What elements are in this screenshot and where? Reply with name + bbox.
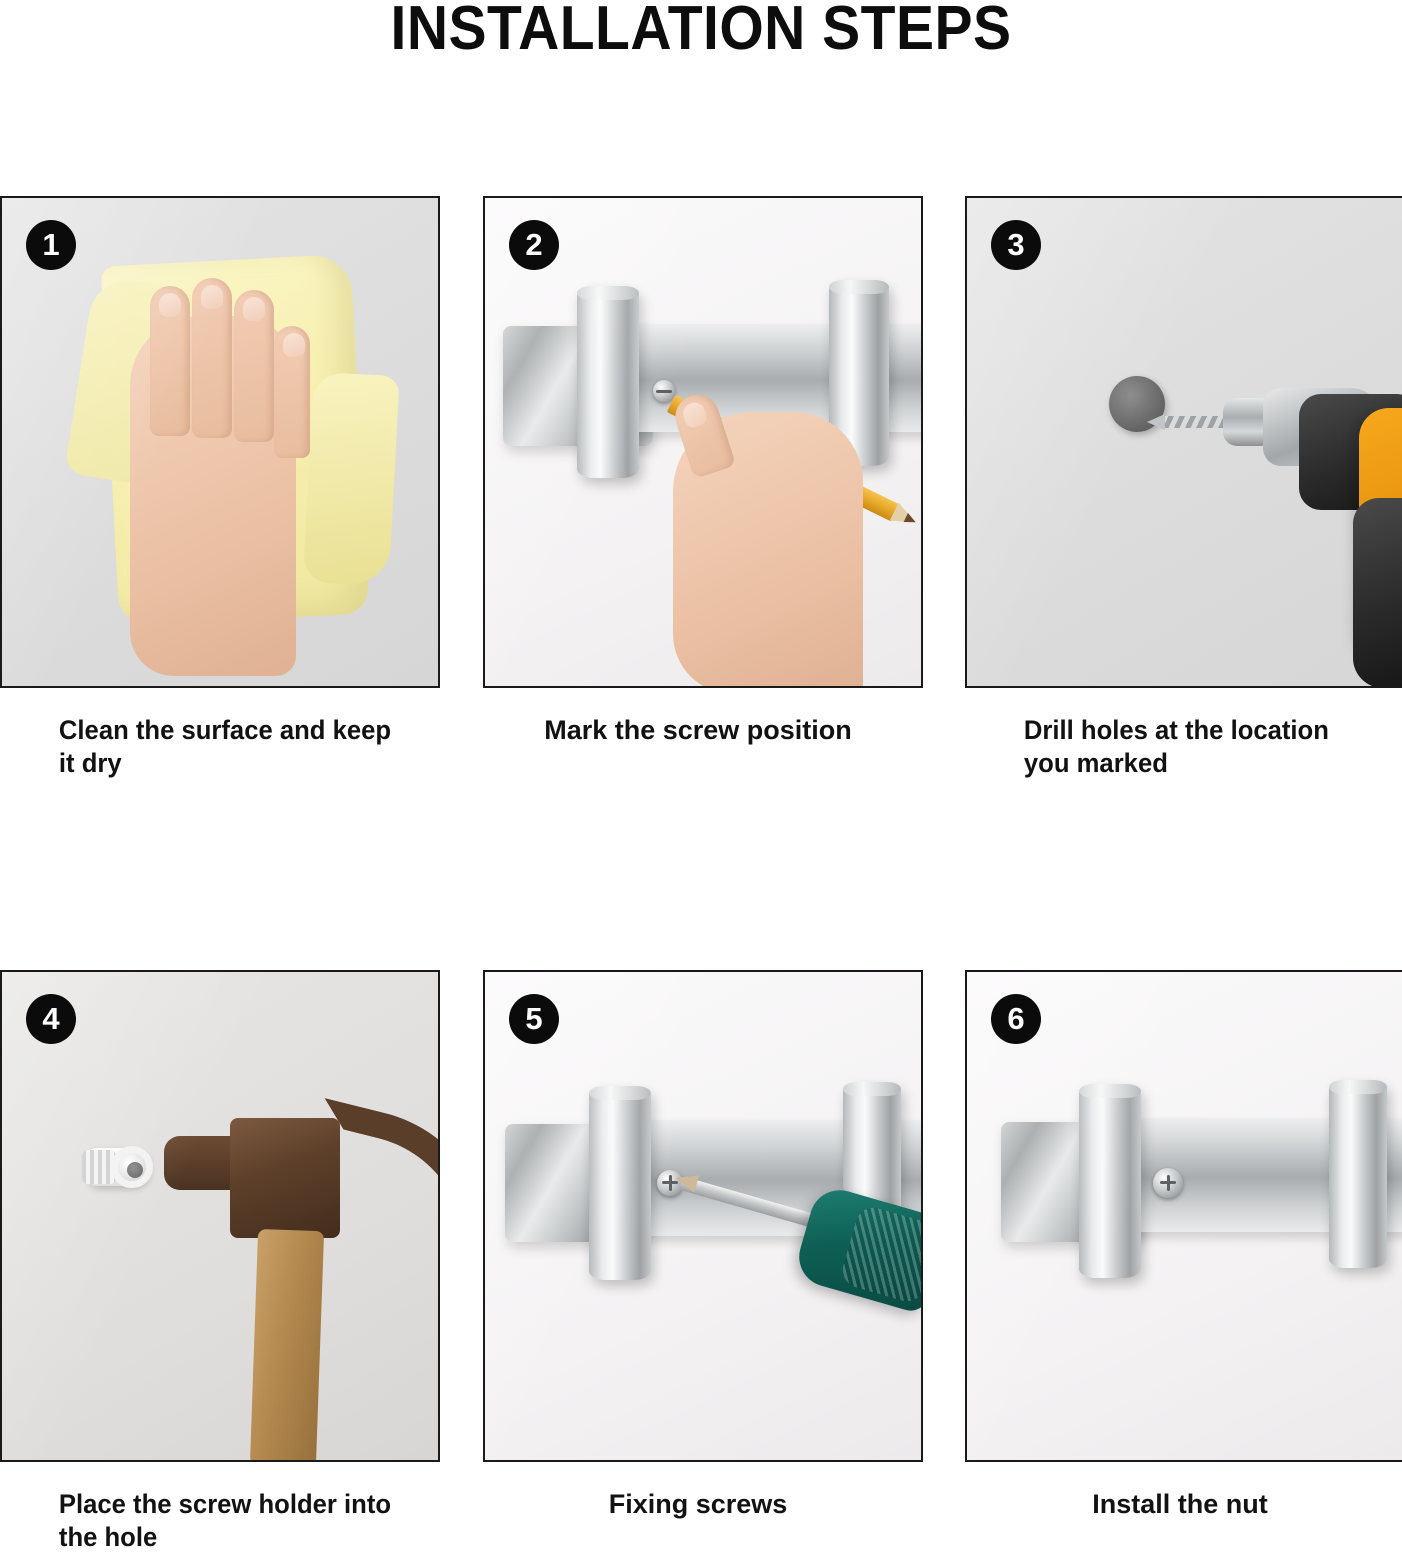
step-caption-4: Place the screw holder into the hole xyxy=(0,1488,418,1554)
hook-icon xyxy=(577,286,639,478)
step-caption-5: Fixing screws xyxy=(483,1488,923,1521)
step-number-badge-1: 1 xyxy=(26,220,76,270)
step-image-6: 6 xyxy=(965,970,1402,1462)
step-caption-3: Drill holes at the location you marked xyxy=(965,714,1383,780)
step-number-badge-5: 5 xyxy=(509,994,559,1044)
finger-icon xyxy=(150,286,190,436)
step-card-4: 4 Place the screw holder into the hole xyxy=(0,970,440,1554)
hook-icon xyxy=(589,1086,651,1280)
step-image-4: 4 xyxy=(0,970,440,1462)
step-number-badge-2: 2 xyxy=(509,220,559,270)
finger-icon xyxy=(274,326,310,458)
step-card-6: 6 Install the nut xyxy=(965,970,1402,1554)
step-image-2: 2 xyxy=(483,196,923,688)
steps-row-bottom: 4 Place the screw holder into the hole 5 xyxy=(0,970,1402,1554)
step-card-2: 2 Mark the screw position xyxy=(483,196,923,780)
steps-row-top: 1 Clean the surface and keep it dry 2 xyxy=(0,196,1402,780)
step-number-badge-3: 3 xyxy=(991,220,1041,270)
finger-icon xyxy=(192,278,232,438)
step-number-badge-6: 6 xyxy=(991,994,1041,1044)
finger-icon xyxy=(234,290,274,442)
step-image-3: 3 xyxy=(965,196,1402,688)
hook-icon xyxy=(1079,1084,1141,1278)
step-caption-2: Mark the screw position xyxy=(483,714,923,747)
hammer-handle-icon xyxy=(250,1229,324,1462)
step-caption-6: Install the nut xyxy=(965,1488,1402,1521)
step-image-5: 5 xyxy=(483,970,923,1462)
steps-grid: 1 Clean the surface and keep it dry 2 xyxy=(0,196,1402,1554)
drill-grip-icon xyxy=(1353,498,1402,688)
step-card-5: 5 Fixing screws xyxy=(483,970,923,1554)
step-image-1: 1 xyxy=(0,196,440,688)
installed-screw-icon xyxy=(1153,1168,1183,1198)
step-caption-1: Clean the surface and keep it dry xyxy=(0,714,418,780)
step-card-1: 1 Clean the surface and keep it dry xyxy=(0,196,440,780)
screw-hole-icon xyxy=(653,380,675,402)
wall-anchor-icon xyxy=(88,1148,148,1186)
page-title: INSTALLATION STEPS xyxy=(56,0,1346,63)
step-card-3: 3 Drill holes at the location you marked xyxy=(965,196,1402,780)
hook-icon xyxy=(1329,1080,1387,1268)
step-number-badge-4: 4 xyxy=(26,994,76,1044)
